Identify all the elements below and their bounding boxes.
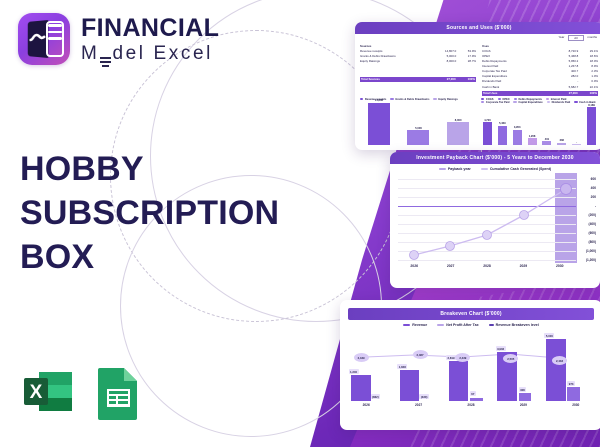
legend-item: Net Profit After Tax [437, 323, 478, 327]
bar-value-label: 14,806 [375, 99, 383, 102]
legend-line-marker [481, 168, 488, 169]
breakeven-node-label: 2,433 [552, 356, 567, 365]
profit-value-label: 67 [470, 391, 476, 396]
legend-swatch [437, 324, 444, 327]
subheader-year-label: Year [558, 35, 564, 41]
bar: 3,953 [513, 130, 522, 145]
y-tick: (600) [589, 231, 596, 235]
legend-label: Revenue Breakeven level [496, 323, 539, 327]
x-tick: 2030 [556, 264, 564, 268]
svg-text:X: X [30, 382, 43, 403]
legend-line-marker [489, 324, 494, 326]
subheader-months-label: months [588, 35, 597, 41]
profit-bar [567, 387, 580, 401]
revenue-bar [546, 339, 566, 401]
table-row: Cash in Bank5,682.722.1% [482, 85, 598, 90]
breakeven-legend: Revenue Net Profit After Tax Revenue Bre… [340, 320, 600, 329]
brand-text: FINANCIAL Mdel Excel [81, 16, 219, 63]
total-percent: 100% [578, 91, 597, 96]
legend-swatch [390, 98, 393, 100]
x-tick: 2027 [447, 264, 455, 268]
row-label: Cash in Bank [482, 85, 553, 90]
uses-legend: COGS OPEX Debts Repayments Interest Paid… [481, 98, 598, 104]
bar: 8,000 [447, 122, 469, 145]
legend-label: Grants & Debts Drawdowns [395, 98, 429, 101]
card-breakeven[interactable]: Breakeven Chart ($'000) Revenue Net Prof… [340, 300, 600, 430]
table-row: Equity Raisings 8,000.0 28.7% [360, 59, 476, 64]
y-tick: (1,000) [586, 249, 596, 253]
cumulative-cash-line [392, 173, 580, 263]
uses-total-row: Total Uses 27,000 100% [482, 91, 598, 96]
y-tick: (1,200) [586, 258, 596, 262]
brand-name-primary: FINANCIAL [81, 16, 219, 41]
total-value: 27,000 [553, 91, 578, 96]
bar: 401 [542, 141, 551, 145]
uses-heading: Uses [482, 44, 598, 48]
brand-lockup: FINANCIAL Mdel Excel [18, 13, 219, 65]
revenue-value-label: 5,316 [544, 333, 554, 338]
revenue-value-label: 3,903 [496, 346, 506, 351]
x-tick: 2029 [520, 403, 527, 407]
profit-bar [519, 393, 532, 401]
y-tick: (800) [589, 240, 596, 244]
sources-bars: 14,806 5,000 8,000 [360, 103, 477, 145]
breakeven-title: Breakeven Chart ($'000) [348, 308, 594, 320]
logo-text-lines-icon [48, 24, 62, 44]
legend-swatch [360, 98, 363, 100]
legend-swatch [439, 168, 446, 171]
x-tick: 2026 [410, 264, 418, 268]
bar-value-label: 401 [545, 138, 549, 141]
sources-uses-bar-charts: Revenue receipts Grants & Debts Drawdown… [355, 96, 600, 148]
payback-plot: 600 400 200 - (200) (400) (600) (800) (1… [392, 173, 598, 263]
uses-rows: COGS8,720.929.1% OPEX5,468.818.6% Debts … [482, 49, 598, 90]
bar: 14,806 [368, 103, 390, 145]
bar-value-label: 5,469 [499, 122, 506, 125]
bar: 8,189 [587, 107, 596, 144]
payback-legend: Payback year Cumulative Cash Generated (… [390, 164, 600, 173]
row-value: 8,000.0 [431, 59, 457, 64]
uses-column: Uses COGS8,720.929.1% OPEX5,468.818.6% D… [482, 44, 598, 96]
bar-value-label: 8,189 [588, 104, 595, 107]
left-panel: FINANCIAL Mdel Excel HOBBY SUBSCRIPTION … [0, 0, 330, 447]
legend-item: Revenue [403, 323, 427, 327]
payback-title: Investment Payback Chart ($'000) - 5 Yea… [390, 152, 600, 164]
cover-canvas: FINANCIAL Mdel Excel HOBBY SUBSCRIPTION … [0, 0, 600, 447]
profit-bar [470, 398, 483, 401]
sources-rows: Revenue receipts 14,807.0 53.9% Grants &… [360, 49, 476, 64]
chart-document-icon [18, 13, 70, 65]
bar-value-label: - [576, 141, 577, 144]
y-tick: 600 [591, 177, 596, 181]
page-title: HOBBY SUBSCRIPTION BOX [20, 147, 330, 280]
payback-x-axis: 2026 2027 2028 2029 2030 [390, 263, 600, 268]
legend-item: Revenue Breakeven level [489, 323, 539, 327]
y-tick: (400) [589, 222, 596, 226]
legend-label: Dividends Paid [552, 101, 571, 104]
squiggle-line-icon [30, 32, 47, 45]
excel-icon: X [22, 366, 74, 418]
sources-uses-subheader: Year All months [355, 34, 600, 42]
legend-item: Capital Expenditure [513, 101, 542, 104]
legend-label: Cumulative Cash Generated (Spent) [490, 167, 551, 171]
x-tick: 2029 [520, 264, 528, 268]
legend-label: Capital Expenditure [518, 101, 542, 104]
total-label: Total Uses [483, 91, 553, 96]
legend-item: Grants & Debts Drawdowns [390, 98, 429, 101]
legend-label: Equity Raisings [438, 98, 457, 101]
brand-secondary-suffix: del Excel [112, 44, 213, 63]
bar: 282 [557, 143, 566, 145]
revenue-bar [400, 370, 420, 401]
breakeven-x-axis: 2026 2027 2028 2029 2030 [340, 401, 600, 407]
breakeven-node-label: 2,487 [413, 350, 428, 359]
google-sheets-icon [96, 366, 141, 420]
file-format-icons: X [22, 366, 141, 420]
x-tick: 2028 [483, 264, 491, 268]
legend-label: Net Profit After Tax [446, 323, 478, 327]
total-value: 27,000 [431, 77, 456, 82]
legend-label: Revenue [412, 323, 427, 327]
sources-column: Sources Revenue receipts 14,807.0 53.9% … [360, 44, 476, 96]
sources-heading: Sources [360, 44, 476, 48]
bar: 5,469 [498, 126, 507, 145]
revenue-bar [351, 375, 371, 401]
legend-item: Corporate Tax Paid [481, 101, 509, 104]
bar: 5,000 [407, 130, 429, 144]
revenue-value-label: 1,240 [349, 369, 359, 374]
sources-total-row: Total Sources 27,000 100% [360, 77, 476, 82]
legend-swatch [481, 101, 484, 103]
uses-bar-chart: COGS OPEX Debts Repayments Interest Paid… [481, 98, 598, 145]
card-sources-and-uses[interactable]: Sources and Uses ($'000) Year All months… [355, 22, 600, 150]
y-tick: 200 [591, 195, 596, 199]
bar: 1,268 [528, 138, 537, 144]
row-percent: 22.1% [578, 85, 598, 90]
total-percent: 100% [456, 77, 475, 82]
bar-value-label: 4,720 [484, 119, 491, 122]
legend-swatch [403, 324, 410, 327]
subheader-period-select[interactable]: All [568, 35, 583, 41]
bar-value-label: 1,268 [529, 135, 536, 138]
legend-label: Corporate Tax Paid [486, 101, 510, 104]
sources-uses-table: Sources Revenue receipts 14,807.0 53.9% … [355, 42, 600, 96]
legend-swatch [513, 101, 516, 103]
profit-value-label: 408 [519, 387, 527, 392]
row-value: 5,682.7 [553, 85, 579, 90]
profit-value-label: 973 [567, 381, 575, 386]
x-tick: 2027 [415, 403, 422, 407]
breakeven-plot: 1,240 (862) 2,439 1,848 (330) 2,487 2,81… [346, 331, 596, 401]
x-tick: 2030 [572, 403, 579, 407]
bar: 4,720 [483, 122, 492, 145]
bar-value-label: 5,000 [415, 127, 422, 130]
uses-bars: 4,720 5,469 3,953 1,268 401 282 - 8,189 [481, 106, 598, 145]
legend-item: Equity Raisings [433, 98, 457, 101]
row-percent: 28.7% [456, 59, 476, 64]
revenue-bar [449, 361, 469, 401]
y-tick: 400 [591, 186, 596, 190]
y-tick: (200) [589, 213, 596, 217]
x-tick: 2026 [363, 403, 370, 407]
card-investment-payback[interactable]: Investment Payback Chart ($'000) - 5 Yea… [390, 152, 600, 288]
bar-value-label: 3,953 [514, 126, 521, 129]
profit-value-label: (330) [419, 394, 429, 399]
sources-uses-title: Sources and Uses ($'000) [355, 22, 600, 34]
revenue-value-label: 1,848 [397, 364, 407, 369]
sources-bar-chart: Revenue receipts Grants & Debts Drawdown… [360, 98, 477, 145]
legend-swatch [433, 98, 436, 100]
row-label: Equity Raisings [360, 59, 431, 64]
brand-secondary-prefix: M [81, 44, 99, 63]
legend-item: Payback year [439, 167, 471, 171]
brand-name-secondary: Mdel Excel [81, 44, 219, 63]
legend-item: Cumulative Cash Generated (Spent) [481, 167, 551, 171]
y-tick: - [595, 204, 596, 208]
breakeven-node-label: 2,439 [354, 353, 369, 362]
legend-swatch [547, 101, 550, 103]
profit-value-label: (862) [371, 394, 381, 399]
legend-item: Dividends Paid [547, 101, 570, 104]
legend-label: Payback year [448, 167, 471, 171]
x-tick: 2028 [467, 403, 474, 407]
total-label: Total Sources [361, 77, 431, 82]
legend-swatch [574, 101, 577, 103]
bar-value-label: 282 [560, 139, 564, 142]
bar-value-label: 8,000 [455, 119, 462, 122]
